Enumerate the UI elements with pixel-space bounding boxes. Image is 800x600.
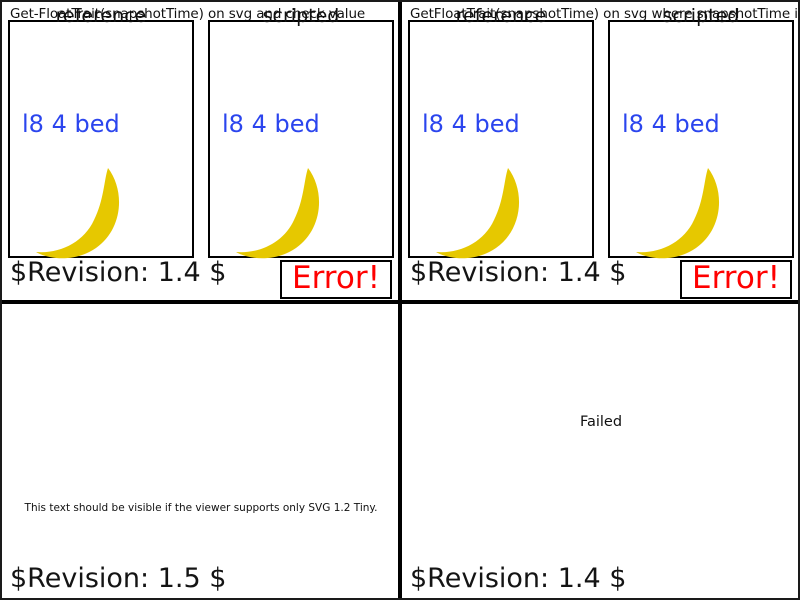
failed-note: Failed	[402, 414, 800, 430]
reference-caption: reference	[10, 5, 192, 27]
reference-blue-text: l8 4 bed	[22, 110, 120, 138]
reference-panel: reference l8 4 bed	[408, 20, 594, 258]
horizontal-divider	[2, 300, 798, 304]
revision-label: $Revision: 1.4 $	[410, 563, 626, 594]
revision-label: $Revision: 1.4 $	[410, 257, 626, 288]
reference-panel: reference l8 4 bed	[8, 20, 194, 258]
reference-blue-text: l8 4 bed	[422, 110, 520, 138]
scripted-panel: scripted l8 4 bed	[208, 20, 394, 258]
quadrant-bottom-left: This text should be visible if the viewe…	[2, 304, 400, 600]
crescent-moon-icon	[430, 164, 540, 260]
scripted-blue-text: l8 4 bed	[222, 110, 320, 138]
quadrant-bottom-right: Failed $Revision: 1.4 $	[402, 304, 800, 600]
quadrant-top-right: GetFloatTrait(snapshotTime) on svg where…	[402, 2, 800, 302]
revision-label: $Revision: 1.4 $	[10, 257, 226, 288]
revision-label: $Revision: 1.5 $	[10, 563, 226, 594]
scripted-caption: scripted	[610, 5, 792, 27]
scripted-caption: scripted	[210, 5, 392, 27]
scripted-blue-text: l8 4 bed	[622, 110, 720, 138]
crescent-moon-icon	[230, 164, 340, 260]
fallback-note: This text should be visible if the viewe…	[2, 502, 400, 514]
crescent-moon-icon	[630, 164, 740, 260]
status-badge: Error!	[680, 260, 792, 299]
reference-caption: reference	[410, 5, 592, 27]
quadrant-top-left: Get-FloatTrait(snapshotTime) on svg and …	[2, 2, 400, 302]
status-badge: Error!	[280, 260, 392, 299]
crescent-moon-icon	[30, 164, 140, 260]
scripted-panel: scripted l8 4 bed	[608, 20, 794, 258]
test-result-grid: Get-FloatTrait(snapshotTime) on svg and …	[0, 0, 800, 600]
